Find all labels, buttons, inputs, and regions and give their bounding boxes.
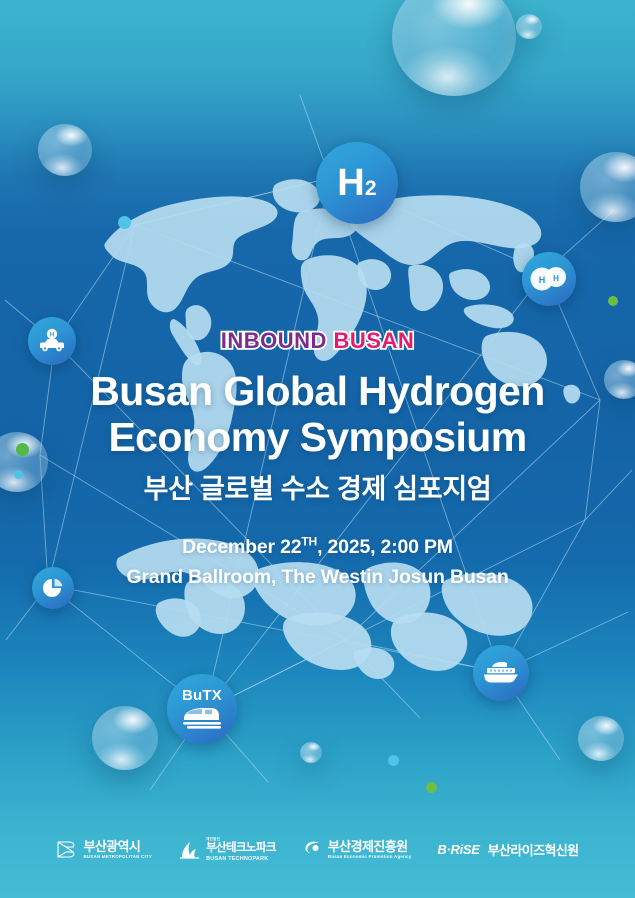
badge-butx-train[interactable]: BuTX	[167, 674, 237, 744]
dot-cyan-bottom	[388, 755, 399, 766]
bubble-small-bottomright	[578, 716, 624, 761]
eyebrow-word-inbound: INBOUND	[221, 328, 327, 353]
title-line-1: Busan Global Hydrogen	[90, 368, 544, 414]
bubble-small-topleft	[38, 124, 92, 176]
hydrogen-molecule-icon: H H	[529, 266, 569, 292]
busan-city-mark-icon	[56, 839, 78, 860]
eyebrow-word-busan: BUSAN	[334, 328, 415, 353]
butx-label: BuTX	[182, 688, 222, 703]
bubble-tiny-topright	[516, 14, 542, 39]
logo-brise[interactable]: B·RiSE 부산라이즈혁신원	[437, 840, 578, 859]
busan-city-ko: 부산광역시	[83, 840, 152, 853]
eyebrow-tagline: INBOUND BUSAN	[0, 330, 635, 352]
busan-city-text: 부산광역시 BUSAN METROPOLITAN CITY	[83, 840, 152, 860]
event-venue: Grand Ballroom, The Westin Josun Busan	[0, 562, 635, 592]
svg-text:H: H	[539, 275, 546, 285]
btp-ko: 부산테크노파크	[206, 843, 276, 855]
subtitle-korean: 부산 글로벌 수소 경제 심포지엄	[0, 473, 635, 505]
dot-green-right	[608, 296, 618, 306]
dot-green-bottom	[426, 782, 437, 793]
h2-subscript: 2	[365, 178, 377, 199]
date-month: December	[182, 536, 275, 558]
title-line-2: Economy Symposium	[0, 414, 635, 460]
btp-en: BUSAN TECHNOPARK	[206, 857, 276, 862]
badge-hydrogen-molecule[interactable]: H H	[522, 252, 576, 306]
logo-busan-metropolitan-city[interactable]: 부산광역시 BUSAN METROPOLITAN CITY	[56, 839, 152, 860]
bepa-text: 부산경제진흥원 Busan Economic Promotion Agency	[328, 840, 411, 860]
event-datetime: December 22TH, 2025, 2:00 PM	[0, 532, 635, 562]
btp-mark-icon	[178, 839, 201, 861]
busan-city-en: BUSAN METROPOLITAN CITY	[83, 855, 152, 859]
poster-canvas: H2 H H H BuTX	[0, 0, 635, 898]
svg-text:H: H	[553, 274, 559, 283]
poster-text-block: INBOUND BUSAN Busan Global Hydrogen Econ…	[0, 330, 635, 592]
brise-wordmark: B·RiSE	[437, 842, 479, 857]
btp-text: 재단법인 부산테크노파크 BUSAN TECHNOPARK	[206, 838, 276, 863]
date-rest: , 2025, 2:00 PM	[317, 536, 453, 558]
date-ordinal: TH	[301, 535, 317, 549]
bubble-tiny-bottom	[300, 742, 322, 763]
event-meta: December 22TH, 2025, 2:00 PM Grand Ballr…	[0, 532, 635, 592]
h2-label: H2	[337, 164, 377, 202]
page-title: Busan Global Hydrogen Economy Symposium	[0, 368, 635, 461]
bepa-ko: 부산경제진흥원	[328, 840, 411, 853]
btp-top: 재단법인	[206, 838, 276, 842]
brise-ko: 부산라이즈혁신원	[488, 840, 579, 859]
logo-busan-technopark[interactable]: 재단법인 부산테크노파크 BUSAN TECHNOPARK	[178, 838, 276, 863]
train-icon	[181, 705, 223, 731]
h2-letter: H	[337, 164, 365, 202]
bubble-medium-bottomleft	[92, 706, 158, 770]
date-day: 22	[280, 536, 301, 558]
badge-hydrogen-h2[interactable]: H2	[316, 142, 398, 224]
bepa-en: Busan Economic Promotion Agency	[328, 855, 411, 859]
dot-cyan-topleft	[118, 216, 131, 229]
ship-icon	[481, 659, 521, 687]
bepa-mark-icon	[302, 839, 323, 860]
badge-cruise-ship[interactable]	[473, 645, 529, 701]
logo-bepa[interactable]: 부산경제진흥원 Busan Economic Promotion Agency	[302, 839, 411, 860]
sponsor-logos: 부산광역시 BUSAN METROPOLITAN CITY 재단법인 부산테크노…	[0, 838, 635, 863]
